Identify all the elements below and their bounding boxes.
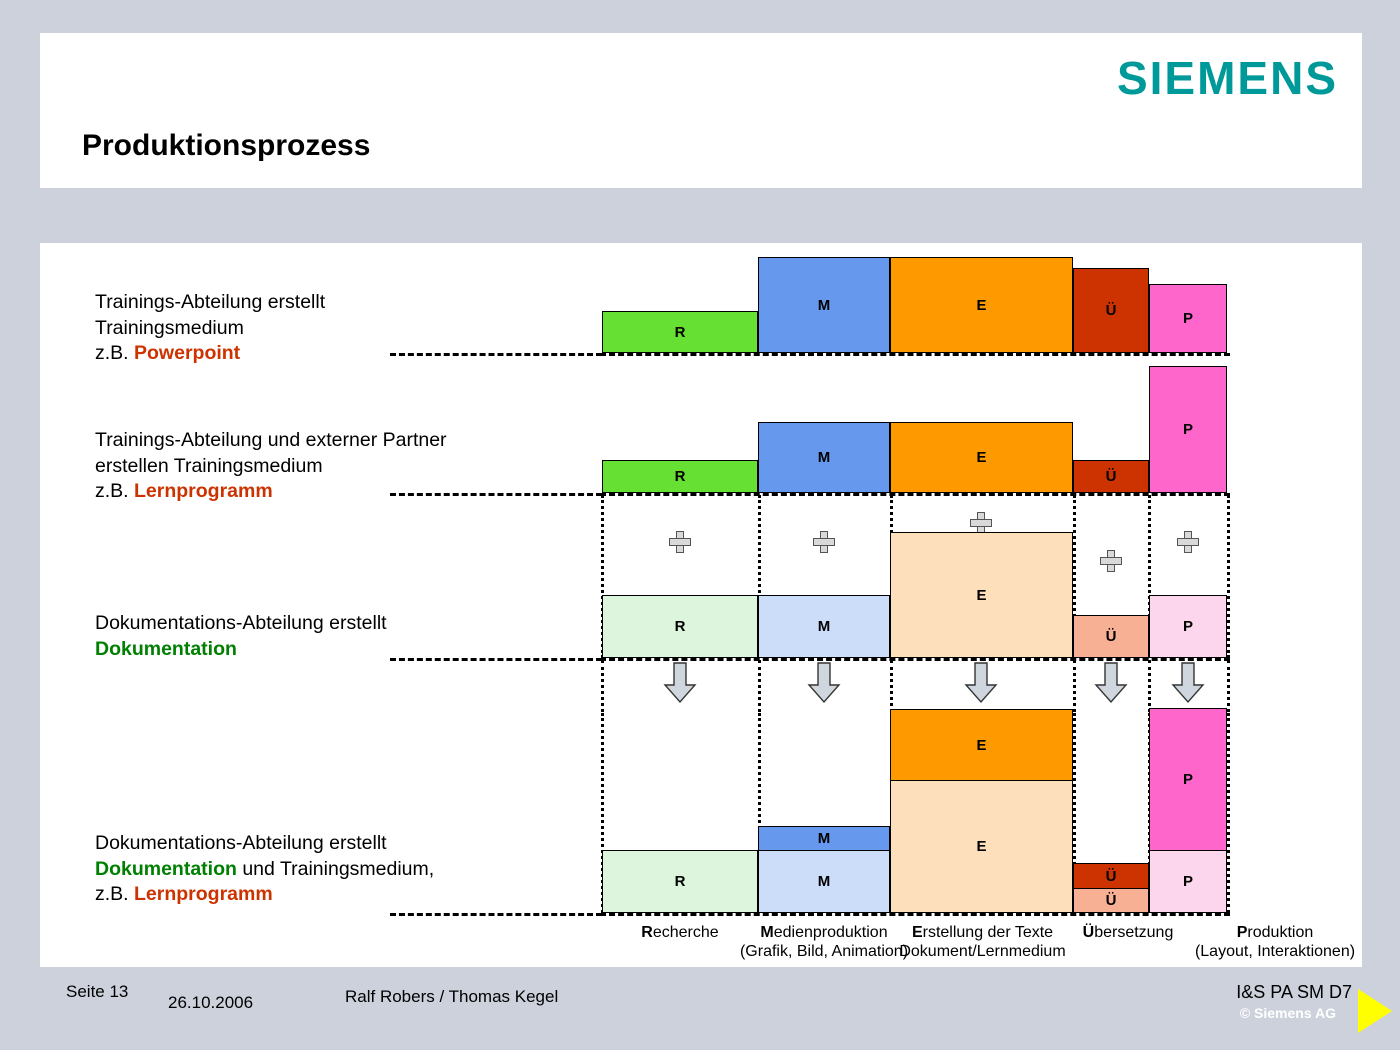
bar-row1-P: P bbox=[1149, 284, 1227, 353]
bar-row4-M-strong: M bbox=[758, 826, 890, 851]
baseline-row3 bbox=[600, 658, 1230, 661]
bar-row4-E-pale: E bbox=[890, 780, 1073, 913]
footer-department: I&S PA SM D7 bbox=[1236, 982, 1352, 1003]
bar-row2-U: Ü bbox=[1073, 460, 1149, 493]
bar-row4-E-strong: E bbox=[890, 709, 1073, 781]
down-arrow-icon bbox=[1094, 661, 1128, 705]
process-chart: R M E Ü P R M E Ü P R M E Ü P bbox=[40, 243, 1362, 967]
baseline-row2 bbox=[600, 493, 1230, 496]
bar-row2-R: R bbox=[602, 460, 758, 493]
column-separator-right bbox=[1227, 713, 1230, 913]
bar-row4-U-pale: Ü bbox=[1073, 888, 1149, 913]
axis-label-erstellung: Erstellung der Texte Dokument/Lernmedium bbox=[885, 923, 1080, 961]
footer-copyright: © Siemens AG bbox=[1240, 1005, 1336, 1021]
axis-label-uebersetzung: Übersetzung bbox=[1068, 923, 1188, 942]
bar-row4-P-pale: P bbox=[1149, 850, 1227, 913]
plus-icon bbox=[669, 531, 691, 553]
column-separator-left bbox=[601, 660, 604, 712]
bar-row2-E: E bbox=[890, 422, 1073, 493]
header-card: SIEMENS Produktionsprozess bbox=[40, 33, 1362, 188]
column-separator-2 bbox=[890, 660, 893, 712]
bar-row1-R: R bbox=[602, 311, 758, 353]
bar-row1-U: Ü bbox=[1073, 268, 1149, 353]
column-separator-right bbox=[1227, 495, 1230, 658]
bar-row3-R: R bbox=[602, 595, 758, 658]
baseline-row1 bbox=[600, 353, 1230, 356]
column-separator-3 bbox=[1073, 660, 1076, 712]
down-arrow-icon bbox=[663, 661, 697, 705]
footer: Seite 13 26.10.2006 Ralf Robers / Thomas… bbox=[0, 975, 1400, 1050]
down-arrow-icon bbox=[1171, 661, 1205, 705]
footer-authors: Ralf Robers / Thomas Kegel bbox=[345, 987, 558, 1007]
page-title: Produktionsprozess bbox=[82, 129, 370, 163]
play-triangle-icon[interactable] bbox=[1358, 989, 1392, 1033]
page-number: Seite 13 bbox=[66, 982, 128, 1002]
column-separator-1 bbox=[758, 660, 761, 712]
bar-row4-P-strong: P bbox=[1149, 708, 1227, 851]
axis-label-produktion: Produktion (Layout, Interaktionen) bbox=[1180, 923, 1370, 961]
bar-row3-U: Ü bbox=[1073, 615, 1149, 658]
slide-canvas: Trainings-Abteilung erstelltTrainingsmed… bbox=[40, 243, 1362, 967]
plus-icon bbox=[970, 512, 992, 534]
bar-row3-E: E bbox=[890, 532, 1073, 658]
bar-row3-P: P bbox=[1149, 595, 1227, 658]
column-separator-right bbox=[1227, 660, 1230, 712]
down-arrow-icon bbox=[964, 661, 998, 705]
plus-icon bbox=[1100, 550, 1122, 572]
bar-row4-M-pale: M bbox=[758, 850, 890, 913]
bar-row2-P: P bbox=[1149, 366, 1227, 493]
plus-icon bbox=[813, 531, 835, 553]
down-arrow-icon bbox=[807, 661, 841, 705]
plus-icon bbox=[1177, 531, 1199, 553]
bar-row4-R-pale: R bbox=[602, 850, 758, 913]
bar-row4-U-strong: Ü bbox=[1073, 863, 1149, 889]
column-separator-4 bbox=[1148, 660, 1151, 712]
bar-row3-M: M bbox=[758, 595, 890, 658]
baseline-row4 bbox=[600, 913, 1230, 916]
bar-row2-M: M bbox=[758, 422, 890, 493]
siemens-logo: SIEMENS bbox=[1117, 55, 1338, 101]
footer-date: 26.10.2006 bbox=[168, 993, 253, 1013]
bar-row1-M: M bbox=[758, 257, 890, 353]
bar-row1-E: E bbox=[890, 257, 1073, 353]
